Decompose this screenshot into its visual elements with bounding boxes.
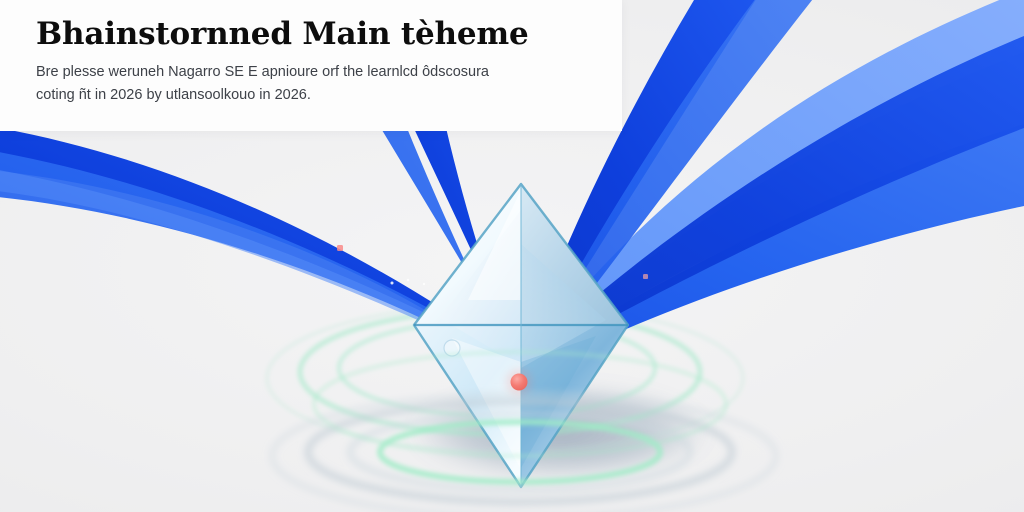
headline-card-content: Bhainstornned Main tèheme Bre plesse wer… xyxy=(36,18,606,108)
page-subtitle: Bre plesse weruneh Nagarro SE E apnioure… xyxy=(36,61,606,108)
subtitle-line-1: Bre plesse weruneh Nagarro SE E apnioure… xyxy=(36,61,606,84)
subtitle-line-2: coting ñt in 2026 by utlansoolkouo in 20… xyxy=(36,84,606,107)
accent-dot-right xyxy=(643,274,648,279)
accent-dot-left xyxy=(337,245,343,251)
slide-canvas: Bhainstornned Main tèheme Bre plesse wer… xyxy=(0,0,1024,512)
accent-dot-crystal-glow xyxy=(506,369,532,395)
page-title: Bhainstornned Main tèheme xyxy=(36,18,606,51)
headline-card: Bhainstornned Main tèheme Bre plesse wer… xyxy=(0,0,622,131)
